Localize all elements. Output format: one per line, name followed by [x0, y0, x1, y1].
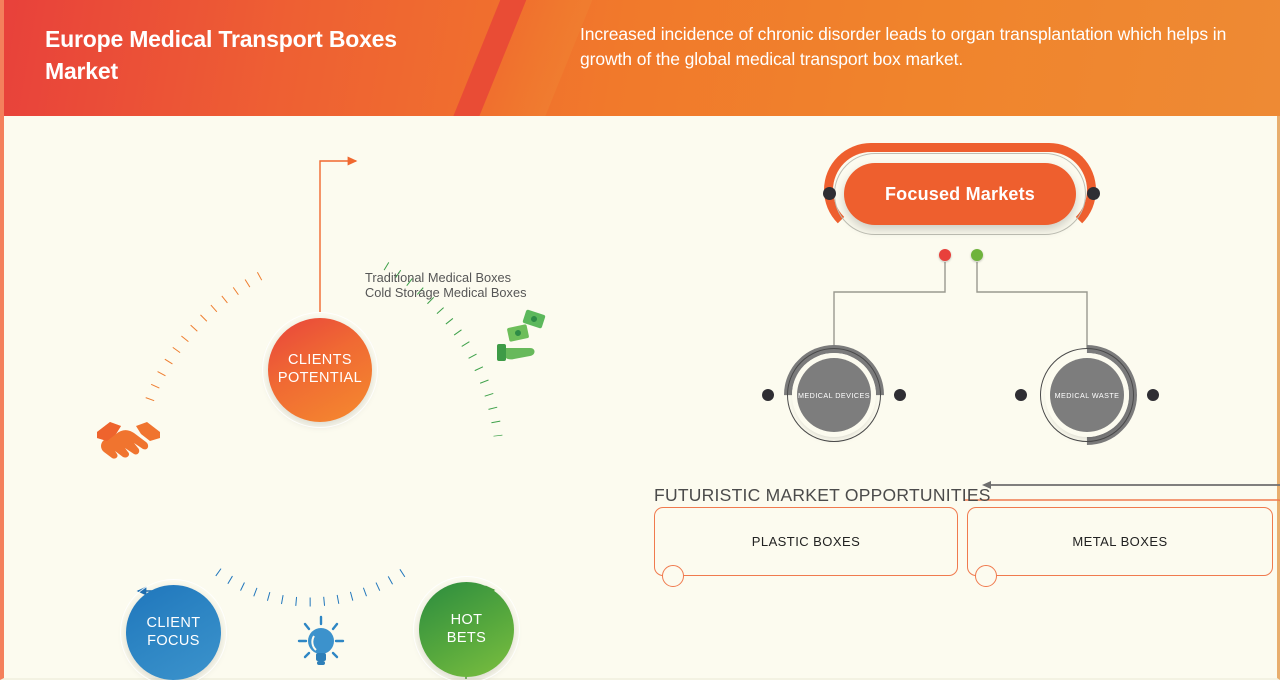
node-clients-potential-label-1: CLIENTS — [288, 352, 352, 370]
green-status-dot — [971, 249, 983, 261]
node-hot-bets-label-1: HOT — [451, 612, 483, 630]
header-description: Increased incidence of chronic disorder … — [580, 22, 1228, 72]
left-cycle-diagram: CLIENTS POTENTIAL Traditional Medical Bo… — [4, 116, 644, 680]
lightbulb-icon — [294, 614, 348, 670]
node-medical-devices[interactable]: MEDICAL DEVICES — [784, 345, 884, 445]
opportunity-knob-plastic — [662, 565, 684, 587]
list-item: Traditional Medical Boxes — [365, 270, 526, 285]
medical-devices-right-dot — [894, 389, 906, 401]
medical-waste-right-dot — [1147, 389, 1159, 401]
infographic-page: Europe Medical Transport Boxes Market In… — [0, 0, 1280, 680]
node-hot-bets[interactable]: HOT BETS — [419, 582, 514, 677]
handshake-icon — [94, 412, 164, 466]
header-banner: Europe Medical Transport Boxes Market In… — [4, 0, 1280, 116]
opportunity-box-plastic[interactable]: PLASTIC BOXES — [654, 507, 958, 576]
clients-potential-items: Traditional Medical Boxes Cold Storage M… — [365, 270, 526, 300]
focused-markets-group: Focused Markets — [812, 143, 1112, 253]
futuristic-market-opportunities-title: FUTURISTIC MARKET OPPORTUNITIES — [654, 485, 991, 506]
focused-markets-button[interactable]: Focused Markets — [844, 163, 1076, 225]
medical-devices-left-dot — [762, 389, 774, 401]
node-client-focus-label-2: FOCUS — [147, 633, 200, 651]
red-status-dot — [939, 249, 951, 261]
page-title: Europe Medical Transport Boxes Market — [45, 24, 475, 87]
opportunity-box-metal[interactable]: METAL BOXES — [967, 507, 1273, 576]
focused-markets-right-dot — [1087, 187, 1100, 200]
medical-waste-label: MEDICAL WASTE — [1050, 358, 1124, 432]
node-client-focus[interactable]: CLIENT FOCUS — [126, 585, 221, 680]
list-item: Cold Storage Medical Boxes — [365, 285, 526, 300]
node-clients-potential[interactable]: CLIENTS POTENTIAL — [268, 318, 372, 422]
node-clients-potential-label-2: POTENTIAL — [278, 370, 362, 388]
medical-waste-left-dot — [1015, 389, 1027, 401]
right-focused-markets-diagram: Focused Markets MEDICAL DEVICES MEDICA — [644, 116, 1280, 680]
node-client-focus-label-1: CLIENT — [147, 615, 201, 633]
medical-devices-label: MEDICAL DEVICES — [797, 358, 871, 432]
money-in-hand-icon — [494, 308, 552, 366]
opportunity-knob-metal — [975, 565, 997, 587]
node-hot-bets-label-2: BETS — [447, 630, 486, 648]
focused-markets-left-dot — [823, 187, 836, 200]
node-medical-waste[interactable]: MEDICAL WASTE — [1037, 345, 1137, 445]
